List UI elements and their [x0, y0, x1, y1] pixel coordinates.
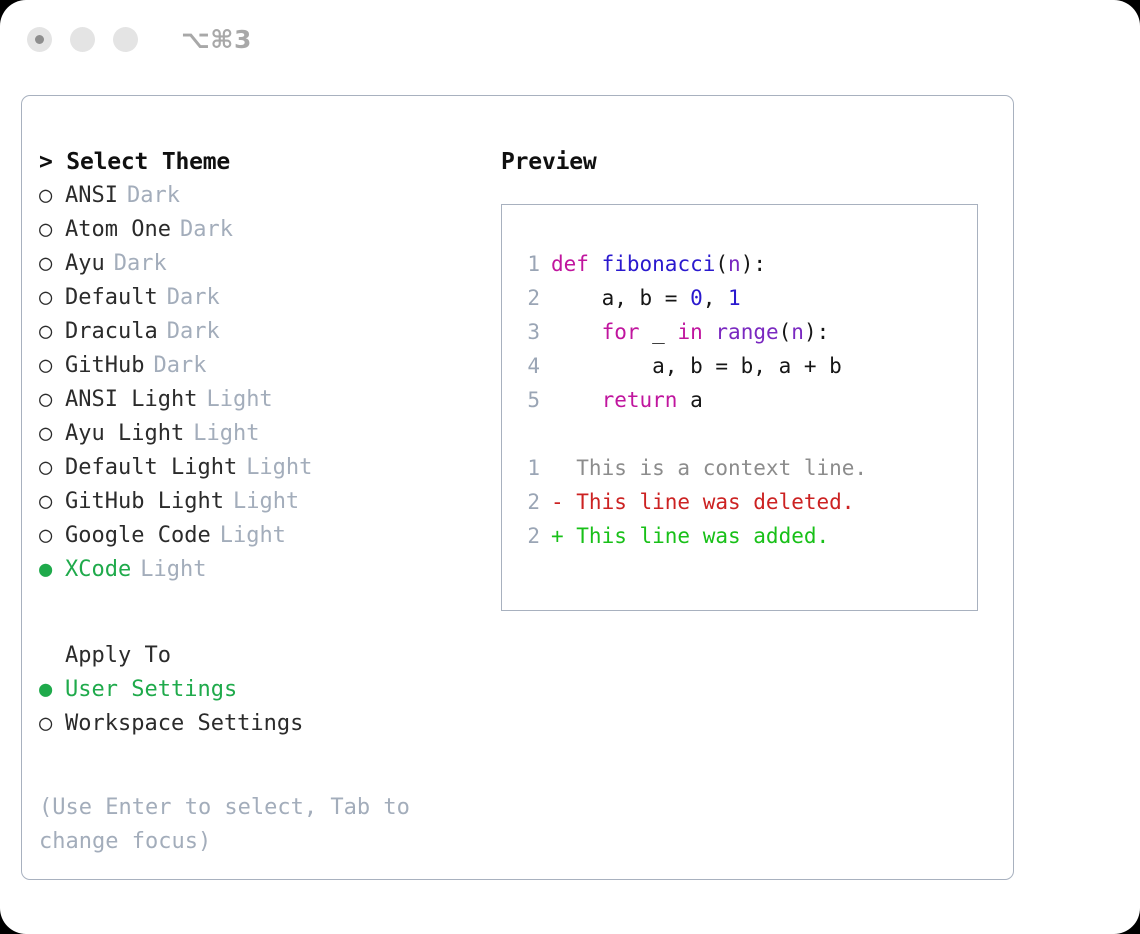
apply-to-option-row[interactable]: ○Workspace Settings — [39, 707, 492, 741]
radio-unselected-icon[interactable]: ○ — [39, 349, 65, 383]
radio-unselected-icon[interactable]: ○ — [39, 383, 65, 417]
theme-option-name: XCode — [65, 553, 131, 587]
apply-to-list[interactable]: ●User Settings○Workspace Settings — [39, 673, 492, 741]
theme-option-row[interactable]: ○Ayu LightLight — [39, 417, 492, 451]
theme-option-row[interactable]: ○GitHub LightLight — [39, 485, 492, 519]
dot-two-icon[interactable] — [70, 27, 95, 52]
code-token-plain: ( — [715, 252, 728, 276]
theme-option-name: Default Light — [65, 451, 237, 485]
theme-option-row[interactable]: ○DraculaDark — [39, 315, 492, 349]
code-line: 2 a, b = 0, 1 — [514, 281, 977, 315]
code-line-text: This is a context line. — [551, 451, 867, 485]
theme-option-name: Default — [65, 281, 158, 315]
code-token-kw: def — [551, 252, 589, 276]
theme-option-row[interactable]: ○DefaultDark — [39, 281, 492, 315]
theme-option-name: ANSI — [65, 179, 118, 213]
app-window: ⌥⌘3 > Select Theme ○ANSIDark○Atom OneDar… — [0, 0, 1140, 934]
theme-option-row[interactable]: ○Default LightLight — [39, 451, 492, 485]
theme-option-row[interactable]: ○ANSIDark — [39, 179, 492, 213]
theme-option-kind: Dark — [167, 281, 220, 315]
code-line-number: 1 — [514, 247, 540, 281]
radio-unselected-icon[interactable]: ○ — [39, 179, 65, 213]
radio-unselected-icon[interactable]: ○ — [39, 417, 65, 451]
code-token-del: - This line was deleted. — [551, 490, 854, 514]
code-token-plain: a, b = — [551, 286, 690, 310]
code-line-text: for _ in range(n): — [551, 315, 829, 349]
code-line-number: 5 — [514, 383, 540, 417]
code-token-var: n — [728, 252, 741, 276]
theme-option-name: Google Code — [65, 519, 211, 553]
code-diff-spacer — [514, 417, 977, 451]
theme-option-name: GitHub — [65, 349, 144, 383]
code-token-num: 1 — [728, 286, 741, 310]
theme-option-kind: Light — [140, 553, 206, 587]
code-token-kw: return — [602, 388, 678, 412]
code-token-plain: ): — [804, 320, 829, 344]
diff-line: 2- This line was deleted. — [514, 485, 977, 519]
radio-unselected-icon[interactable]: ○ — [39, 707, 65, 741]
code-token-call: range — [715, 320, 778, 344]
code-token-plain: ): — [741, 252, 766, 276]
record-dot-inner — [35, 35, 44, 44]
code-line-number: 2 — [514, 281, 540, 315]
code-line-number: 3 — [514, 315, 540, 349]
code-line-number: 4 — [514, 349, 540, 383]
code-token-plain: , — [703, 286, 728, 310]
code-token-ctx: This is a context line. — [551, 456, 867, 480]
code-token-fn: fibonacci — [602, 252, 716, 276]
radio-unselected-icon[interactable]: ○ — [39, 451, 65, 485]
radio-selected-icon[interactable]: ● — [39, 553, 65, 587]
code-line-text: - This line was deleted. — [551, 485, 854, 519]
theme-option-name: Atom One — [65, 213, 171, 247]
preview-column: Preview 1def fibonacci(n):2 a, b = 0, 13… — [492, 96, 1013, 879]
code-line-number: 1 — [514, 451, 540, 485]
code-token-plain: a, b = b, a + b — [551, 354, 842, 378]
theme-option-name: Ayu — [65, 247, 105, 281]
apply-to-option-row[interactable]: ●User Settings — [39, 673, 492, 707]
theme-option-row[interactable]: ●XCodeLight — [39, 553, 492, 587]
theme-option-row[interactable]: ○Google CodeLight — [39, 519, 492, 553]
theme-option-kind: Dark — [127, 179, 180, 213]
theme-option-row[interactable]: ○Atom OneDark — [39, 213, 492, 247]
diff-line: 1 This is a context line. — [514, 451, 977, 485]
theme-option-name: GitHub Light — [65, 485, 224, 519]
keyboard-shortcut-label: ⌥⌘3 — [181, 25, 252, 54]
code-token-plain — [551, 320, 602, 344]
theme-option-name: Ayu Light — [65, 417, 184, 451]
radio-unselected-icon[interactable]: ○ — [39, 247, 65, 281]
diff-sample: 1 This is a context line.2- This line wa… — [514, 451, 977, 553]
theme-option-name: ANSI Light — [65, 383, 197, 417]
theme-option-kind: Light — [193, 417, 259, 451]
code-line: 4 a, b = b, a + b — [514, 349, 977, 383]
theme-option-kind: Dark — [114, 247, 167, 281]
select-theme-heading: > Select Theme — [39, 145, 492, 179]
code-token-plain: ( — [779, 320, 792, 344]
code-line-text: + This line was added. — [551, 519, 829, 553]
record-dot-icon[interactable] — [27, 27, 52, 52]
theme-option-name: Dracula — [65, 315, 158, 349]
diff-line: 2+ This line was added. — [514, 519, 977, 553]
code-token-plain: _ — [640, 320, 678, 344]
code-line-text: return a — [551, 383, 703, 417]
code-token-num: 0 — [690, 286, 703, 310]
main-panel: > Select Theme ○ANSIDark○Atom OneDark○Ay… — [21, 95, 1014, 880]
keyboard-hint-text: (Use Enter to select, Tab to change focu… — [39, 791, 439, 859]
radio-unselected-icon[interactable]: ○ — [39, 519, 65, 553]
radio-unselected-icon[interactable]: ○ — [39, 281, 65, 315]
theme-option-kind: Dark — [180, 213, 233, 247]
theme-option-row[interactable]: ○ANSI LightLight — [39, 383, 492, 417]
code-line-number: 2 — [514, 519, 540, 553]
window-controls — [27, 27, 138, 52]
code-line: 1def fibonacci(n): — [514, 247, 977, 281]
code-sample: 1def fibonacci(n):2 a, b = 0, 13 for _ i… — [514, 247, 977, 417]
code-token-kw: in — [677, 320, 702, 344]
preview-code-box: 1def fibonacci(n):2 a, b = 0, 13 for _ i… — [501, 204, 978, 611]
code-token-var: n — [791, 320, 804, 344]
code-line-text: a, b = 0, 1 — [551, 281, 741, 315]
title-bar: ⌥⌘3 — [0, 0, 1140, 78]
code-token-kw: for — [602, 320, 640, 344]
code-token-plain — [551, 388, 602, 412]
dot-three-icon[interactable] — [113, 27, 138, 52]
apply-to-option-name: User Settings — [65, 673, 237, 707]
radio-unselected-icon[interactable]: ○ — [39, 213, 65, 247]
code-line-text: a, b = b, a + b — [551, 349, 842, 383]
code-token-plain — [589, 252, 602, 276]
radio-unselected-icon[interactable]: ○ — [39, 315, 65, 349]
theme-option-row[interactable]: ○AyuDark — [39, 247, 492, 281]
theme-option-kind: Light — [233, 485, 299, 519]
theme-option-kind: Light — [220, 519, 286, 553]
radio-unselected-icon[interactable]: ○ — [39, 485, 65, 519]
radio-selected-icon[interactable]: ● — [39, 673, 65, 707]
code-line: 5 return a — [514, 383, 977, 417]
theme-option-kind: Dark — [153, 349, 206, 383]
theme-selection-column: > Select Theme ○ANSIDark○Atom OneDark○Ay… — [22, 96, 492, 879]
theme-option-kind: Light — [246, 451, 312, 485]
code-line-text: def fibonacci(n): — [551, 247, 766, 281]
theme-option-kind: Light — [206, 383, 272, 417]
code-token-add: + This line was added. — [551, 524, 829, 548]
theme-list[interactable]: ○ANSIDark○Atom OneDark○AyuDark○DefaultDa… — [39, 179, 492, 587]
apply-to-heading: Apply To — [39, 639, 492, 673]
code-token-plain: a — [677, 388, 702, 412]
apply-to-section: Apply To ●User Settings○Workspace Settin… — [39, 639, 492, 741]
code-line: 3 for _ in range(n): — [514, 315, 977, 349]
apply-to-option-name: Workspace Settings — [65, 707, 303, 741]
code-token-plain — [703, 320, 716, 344]
code-line-number: 2 — [514, 485, 540, 519]
theme-option-row[interactable]: ○GitHubDark — [39, 349, 492, 383]
theme-option-kind: Dark — [167, 315, 220, 349]
preview-heading: Preview — [501, 145, 1013, 179]
